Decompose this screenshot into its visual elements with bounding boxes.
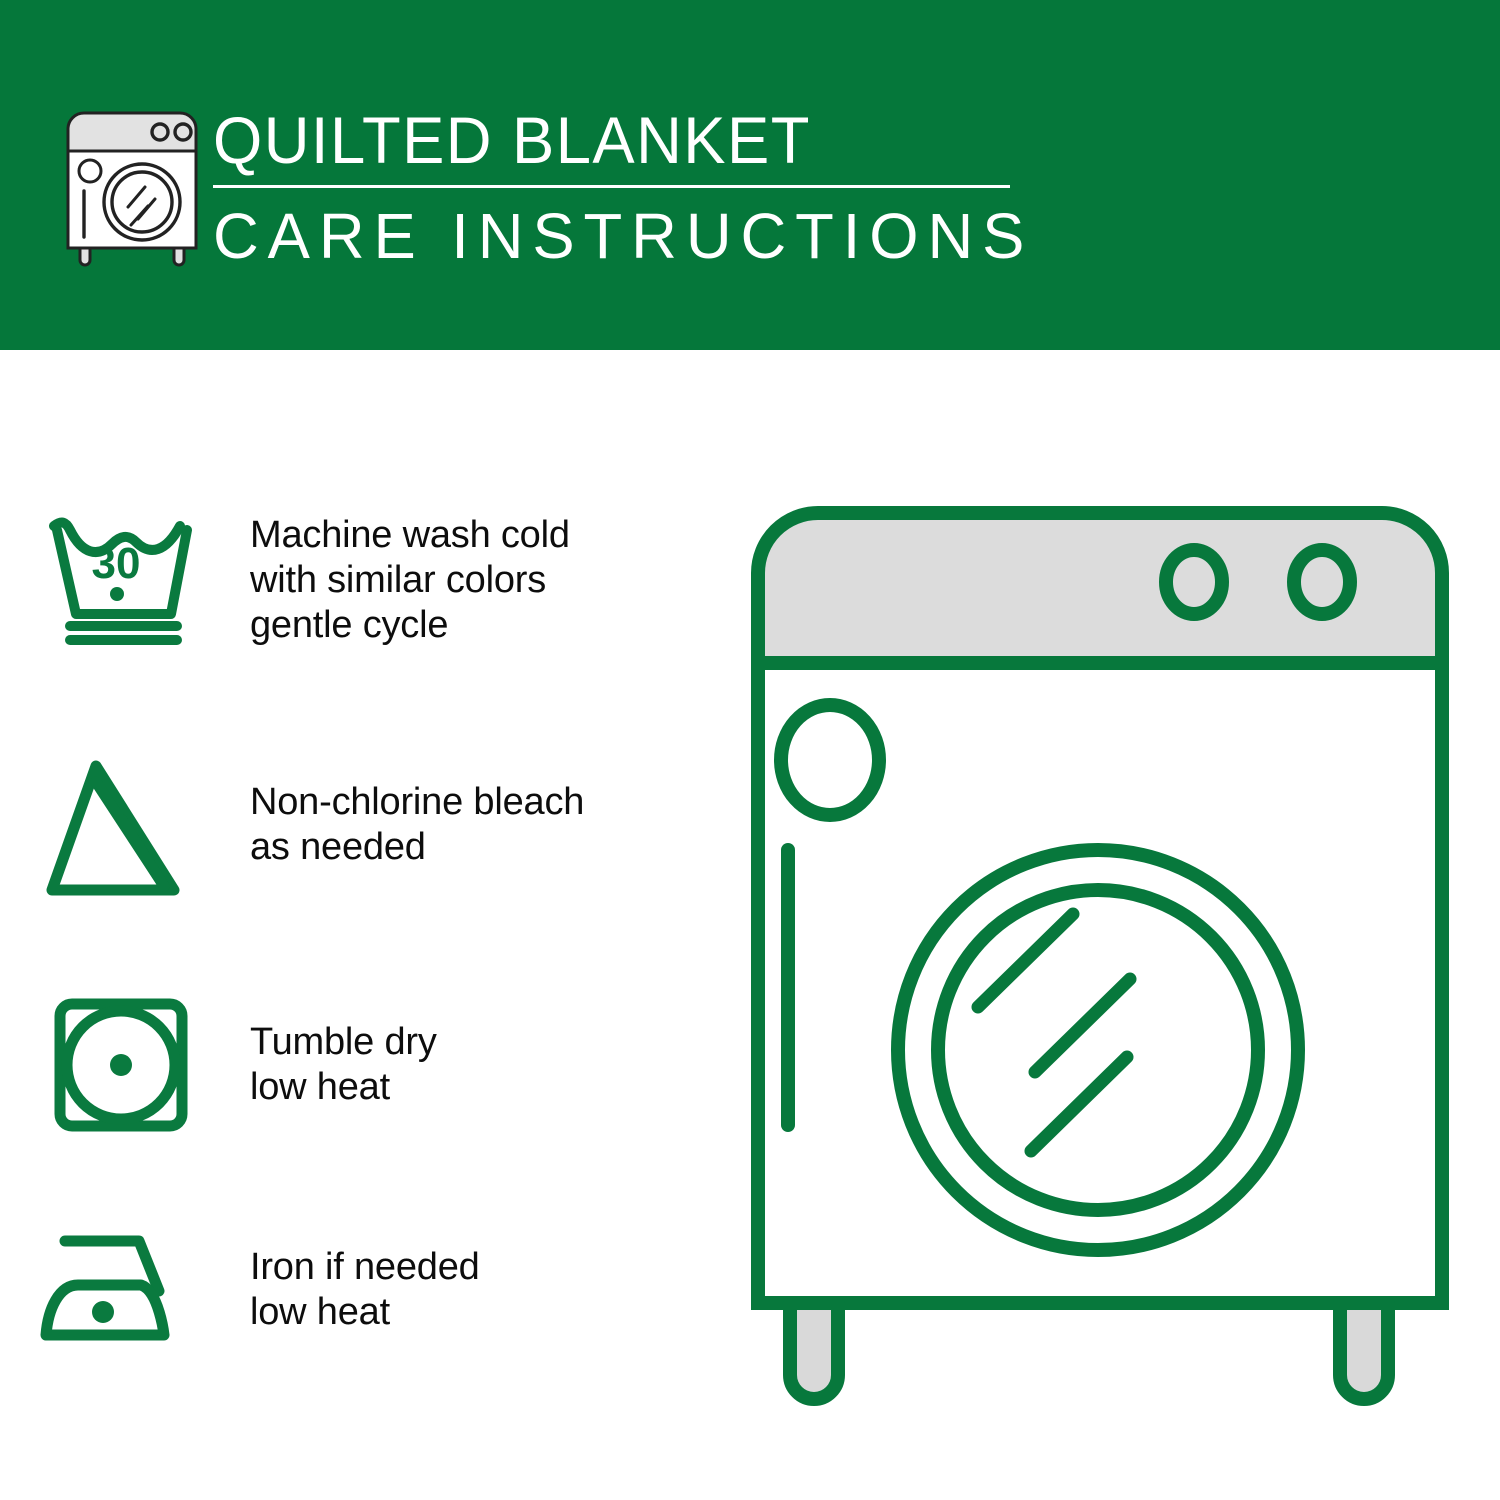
wash-temperature-value: 30 (92, 539, 141, 588)
header-divider (213, 185, 1010, 188)
care-text-line: Tumble dry (250, 1020, 730, 1065)
care-instruction-text: Tumble dry low heat (250, 1020, 730, 1110)
page-subtitle: CARE INSTRUCTIONS (213, 200, 1015, 272)
leg-left (790, 1303, 838, 1399)
care-text-line: Machine wash cold (250, 513, 730, 558)
header-banner: QUILTED BLANKET CARE INSTRUCTIONS (0, 0, 1500, 350)
knob-left (1166, 550, 1222, 614)
iron-low-heat-symbol (0, 1225, 250, 1355)
care-text-line: gentle cycle (250, 603, 730, 648)
front-load-washing-machine-illustration (740, 495, 1460, 1425)
care-text-line: with similar colors (250, 558, 730, 603)
care-instruction-row: Iron if needed low heat (0, 1225, 730, 1355)
care-text-line: Non-chlorine bleach (250, 780, 730, 825)
detergent-drawer-circle (781, 705, 879, 815)
knob-right (1294, 550, 1350, 614)
machine-wash-30-gentle-symbol: 30 (0, 510, 250, 650)
care-text-line: Iron if needed (250, 1245, 730, 1290)
care-instruction-row: 30 Machine wash cold with similar colors… (0, 510, 730, 650)
washing-machine-icon (62, 103, 202, 268)
leg-right (1340, 1303, 1388, 1399)
care-text-line: low heat (250, 1065, 730, 1110)
care-instruction-text: Iron if needed low heat (250, 1245, 730, 1335)
care-text-line: as needed (250, 825, 730, 870)
care-instruction-row: Tumble dry low heat (0, 990, 730, 1140)
care-instruction-text: Non-chlorine bleach as needed (250, 780, 730, 870)
care-instruction-text: Machine wash cold with similar colors ge… (250, 513, 730, 648)
care-text-line: low heat (250, 1290, 730, 1335)
header-title-block: QUILTED BLANKET CARE INSTRUCTIONS (213, 103, 1023, 272)
care-instruction-list: 30 Machine wash cold with similar colors… (0, 350, 730, 1500)
tumble-dry-low-symbol (0, 990, 250, 1140)
page-title: QUILTED BLANKET (213, 103, 991, 177)
care-instruction-row: Non-chlorine bleach as needed (0, 750, 730, 900)
non-chlorine-bleach-symbol (0, 750, 250, 900)
